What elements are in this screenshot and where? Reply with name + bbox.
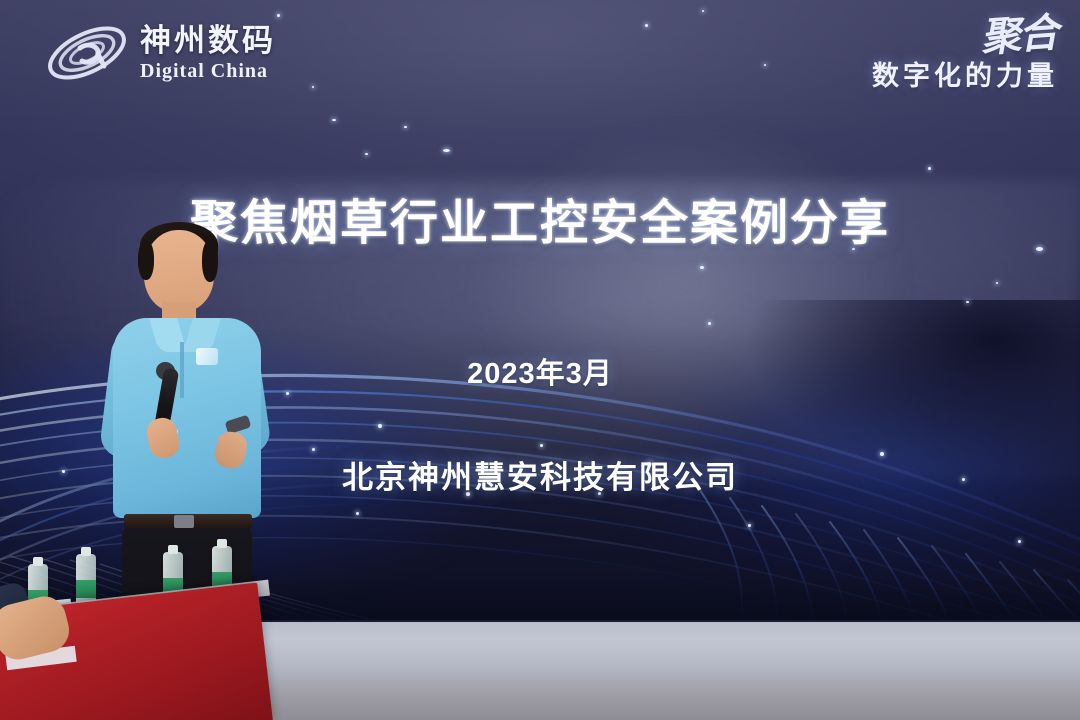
particle	[404, 126, 407, 128]
speaker-hair-left	[138, 240, 154, 280]
particle	[708, 322, 711, 325]
particle	[996, 282, 998, 284]
particle	[702, 10, 704, 12]
particle	[700, 266, 704, 269]
particle	[764, 64, 766, 66]
brand-name-cn: 神州数码	[140, 25, 276, 56]
shirt-logo-icon	[196, 348, 218, 365]
particle	[286, 392, 289, 395]
speaker-belt-buckle	[174, 515, 194, 528]
speaker	[96, 222, 276, 622]
particle	[1018, 540, 1021, 543]
particle	[312, 448, 315, 451]
particle	[312, 86, 314, 88]
event-logo: 聚合 数字化的力量	[872, 14, 1058, 93]
particle	[443, 149, 450, 152]
digital-china-logo: 神州数码 Digital China	[44, 18, 276, 88]
bottle-cap	[33, 557, 43, 566]
particle	[540, 444, 543, 447]
bottle-label	[76, 580, 96, 598]
particle	[332, 119, 336, 121]
particle	[645, 24, 648, 27]
conference-photo: 聚焦烟草行业工控安全案例分享 2023年3月 北京神州慧安科技有限公司 神州数码	[0, 0, 1080, 720]
particle	[356, 512, 359, 515]
bottle-cap	[81, 547, 91, 556]
particle	[365, 153, 368, 155]
particle	[277, 14, 280, 17]
speaker-placket	[180, 342, 184, 398]
swirl-icon	[44, 18, 130, 88]
bottle-cap	[168, 545, 178, 554]
bottle-cap	[217, 539, 227, 548]
speaker-hair-right	[202, 240, 218, 282]
particle	[748, 524, 751, 527]
brand-name-en: Digital China	[140, 61, 276, 81]
particle	[378, 424, 382, 428]
particle	[966, 301, 969, 303]
particle	[928, 167, 931, 170]
